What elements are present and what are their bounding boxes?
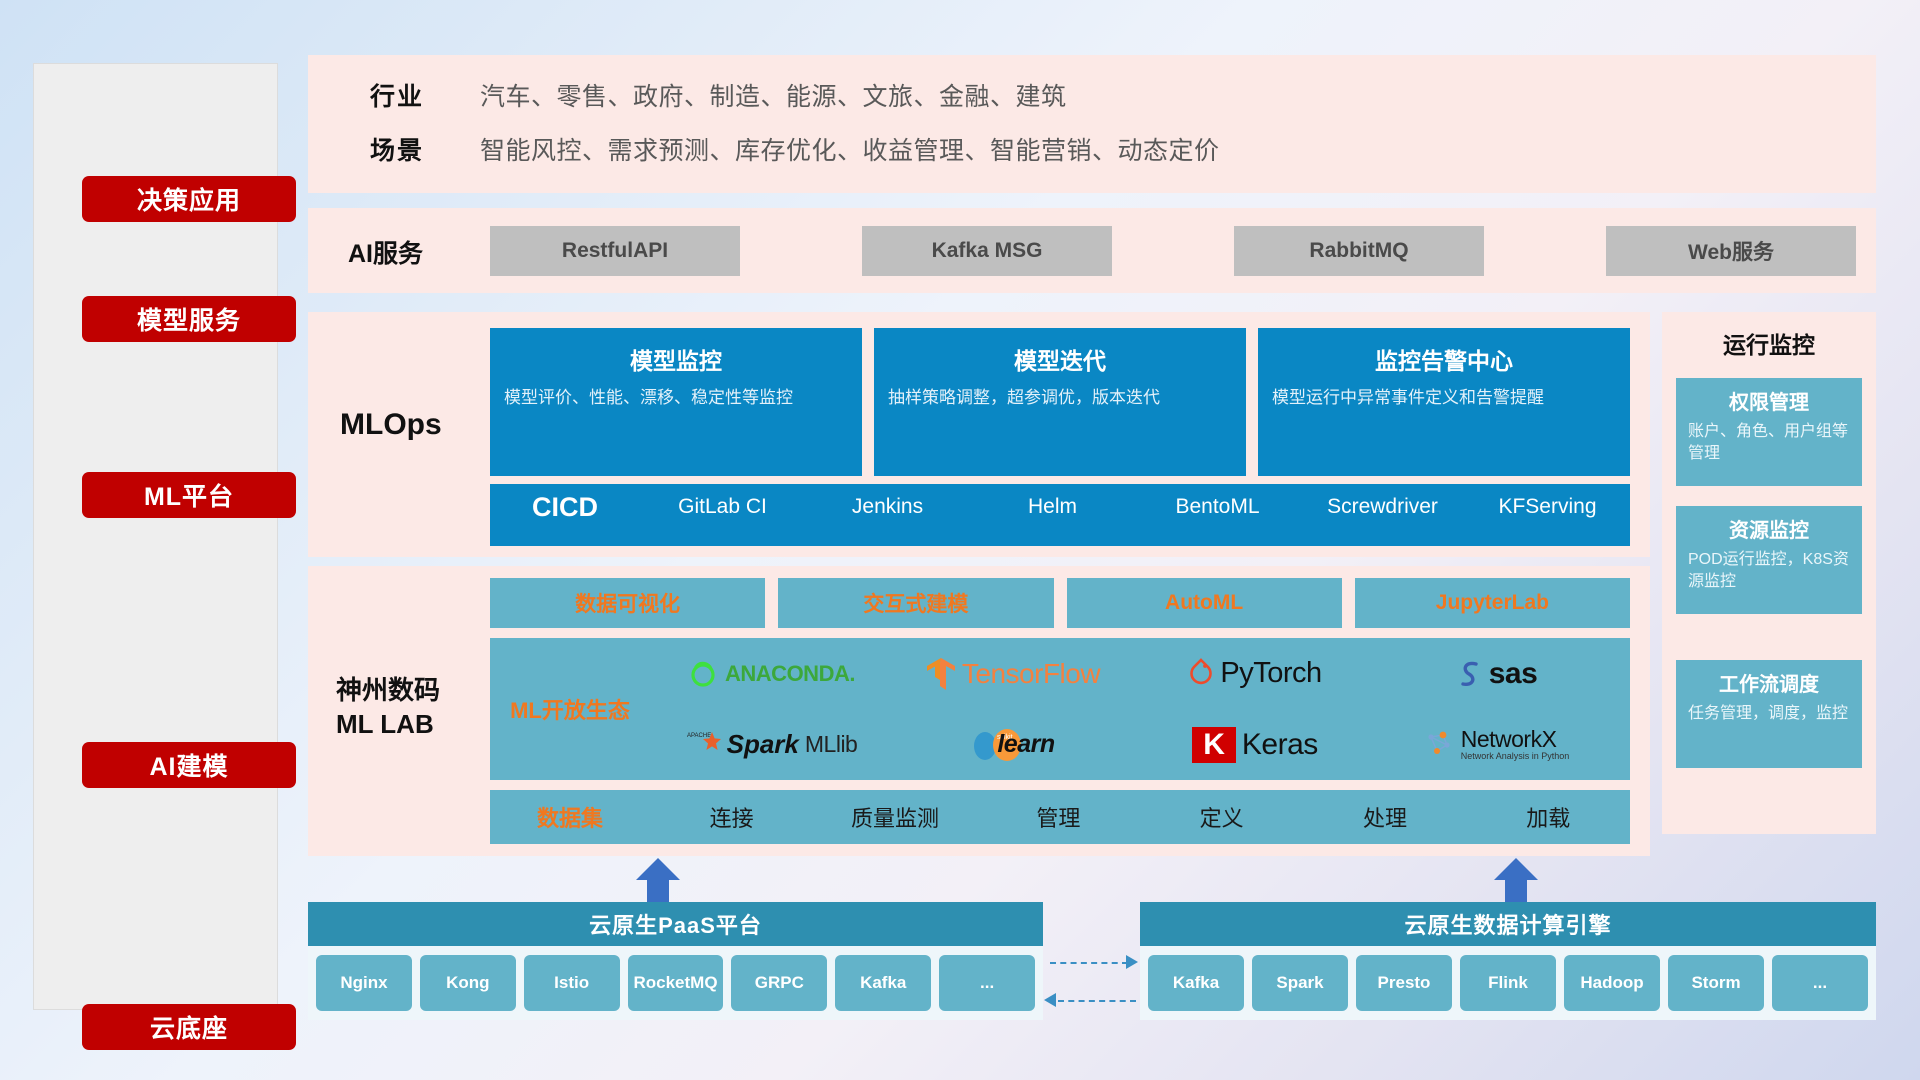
sas-icon (1457, 658, 1483, 690)
arrow-up-paas-icon (636, 858, 680, 906)
card-desc: 模型评价、性能、漂移、稳定性等监控 (504, 386, 848, 410)
networkx-tagline: Network Analysis in Python (1461, 751, 1570, 761)
connector-left-arrow-icon (1044, 993, 1056, 1007)
dataset-row: 数据集 连接 质量监测 管理 定义 处理 加载 (490, 790, 1630, 844)
card-desc: 账户、角色、用户组等管理 (1688, 421, 1850, 464)
connector-right-line (1050, 962, 1128, 964)
dataset-item-process[interactable]: 处理 (1303, 801, 1466, 833)
ml-eco-row: ML开放生态 ANACONDA. TensorFlow (490, 638, 1630, 780)
tensorflow-logo: TensorFlow (926, 657, 1100, 691)
cicd-item-kfserving[interactable]: KFServing (1465, 484, 1630, 520)
run-monitor-card-workflow[interactable]: 工作流调度 任务管理，调度，监控 (1676, 660, 1862, 768)
card-title: 权限管理 (1688, 386, 1850, 415)
ml-lab-tool-list: 数据可视化 交互式建模 AutoML JupyterLab (490, 578, 1630, 628)
chip-hadoop[interactable]: Hadoop (1564, 955, 1660, 1011)
keras-logo: K Keras (1192, 727, 1318, 763)
keras-wordmark: Keras (1242, 728, 1318, 762)
service-chip-web-service[interactable]: Web服务 (1606, 226, 1856, 276)
cloud-data-engine-box: 云原生数据计算引擎 Kafka Spark Presto Flink Hadoo… (1140, 902, 1876, 1020)
tool-chip-interactive-modeling[interactable]: 交互式建模 (778, 578, 1053, 628)
tool-chip-jupyterlab[interactable]: JupyterLab (1355, 578, 1630, 628)
chip-rocketmq[interactable]: RocketMQ (628, 955, 724, 1011)
connector-right-arrow-icon (1126, 955, 1138, 969)
ai-service-list: RestfulAPI Kafka MSG RabbitMQ Web服务 (490, 226, 1856, 276)
industry-label: 行业 (370, 77, 480, 113)
cicd-row: CICD GitLab CI Jenkins Helm BentoML Scre… (490, 484, 1630, 546)
spark-icon: APACHE (685, 728, 721, 762)
anaconda-icon (687, 658, 719, 690)
sidebar-item-label: ML平台 (144, 477, 234, 513)
chip-kafka[interactable]: Kafka (1148, 955, 1244, 1011)
networkx-logo: NetworkX Network Analysis in Python (1425, 728, 1570, 761)
run-monitor-card-permission[interactable]: 权限管理 账户、角色、用户组等管理 (1676, 378, 1862, 486)
ml-lab-label-cn: 神州数码 (336, 674, 440, 708)
service-chip-rabbitmq[interactable]: RabbitMQ (1234, 226, 1484, 276)
dataset-label: 数据集 (490, 801, 650, 833)
ml-eco-logo-grid: ANACONDA. TensorFlow PyTorch (650, 638, 1630, 780)
ml-lab-label-en: ML LAB (336, 708, 440, 742)
tool-chip-automl[interactable]: AutoML (1067, 578, 1342, 628)
card-title: 资源监控 (1688, 514, 1850, 543)
spark-apache-text: APACHE (687, 733, 711, 739)
card-desc: 模型运行中异常事件定义和告警提醒 (1272, 386, 1616, 410)
connector-left-line (1058, 1000, 1136, 1002)
mlops-card-alert-center[interactable]: 监控告警中心 模型运行中异常事件定义和告警提醒 (1258, 328, 1630, 476)
chip-kong[interactable]: Kong (420, 955, 516, 1011)
scene-label: 场景 (370, 131, 480, 167)
learn-wordmark: learn (997, 730, 1054, 759)
card-title: 监控告警中心 (1272, 342, 1616, 376)
layer-rail: 决策应用 模型服务 ML平台 AI建模 云底座 (33, 63, 278, 1010)
cloud-paas-chip-list: Nginx Kong Istio RocketMQ GRPC Kafka ... (308, 946, 1043, 1020)
sidebar-item-label: 模型服务 (137, 301, 241, 337)
industry-scene-band: 行业 汽车、零售、政府、制造、能源、文旅、金融、建筑 场景 智能风控、需求预测、… (308, 55, 1876, 193)
dataset-item-manage[interactable]: 管理 (977, 801, 1140, 833)
pytorch-logo: PyTorch (1188, 657, 1321, 690)
anaconda-wordmark: ANACONDA. (725, 661, 855, 687)
sidebar-item-ai-modeling[interactable]: AI建模 (82, 742, 296, 788)
chip-flink[interactable]: Flink (1460, 955, 1556, 1011)
card-desc: POD运行监控，K8S资源监控 (1688, 549, 1850, 592)
ml-lab-label: 神州数码 ML LAB (336, 674, 440, 742)
mlops-label: MLOps (340, 408, 442, 442)
cloud-paas-box: 云原生PaaS平台 Nginx Kong Istio RocketMQ GRPC… (308, 902, 1043, 1020)
card-desc: 任务管理，调度，监控 (1688, 703, 1850, 725)
ml-eco-label: ML开放生态 (490, 693, 650, 725)
run-monitor-card-resource[interactable]: 资源监控 POD运行监控，K8S资源监控 (1676, 506, 1862, 614)
keras-badge: K (1192, 727, 1236, 763)
tensorflow-wordmark: TensorFlow (962, 658, 1100, 690)
sidebar-item-cloud-base[interactable]: 云底座 (82, 1004, 296, 1050)
chip-more[interactable]: ... (1772, 955, 1868, 1011)
scene-value: 智能风控、需求预测、库存优化、收益管理、智能营销、动态定价 (480, 131, 1220, 167)
sidebar-item-decision-app[interactable]: 决策应用 (82, 176, 296, 222)
ml-lab-band: 神州数码 ML LAB 数据可视化 交互式建模 AutoML JupyterLa… (308, 566, 1650, 856)
sas-wordmark: sas (1489, 657, 1538, 691)
cicd-item-bentoml[interactable]: BentoML (1135, 484, 1300, 520)
dataset-item-load[interactable]: 加载 (1467, 801, 1630, 833)
sidebar-item-model-service[interactable]: 模型服务 (82, 296, 296, 342)
card-title: 模型迭代 (888, 342, 1232, 376)
chip-presto[interactable]: Presto (1356, 955, 1452, 1011)
industry-value: 汽车、零售、政府、制造、能源、文旅、金融、建筑 (480, 77, 1067, 113)
mlops-card-model-iteration[interactable]: 模型迭代 抽样策略调整，超参调优，版本迭代 (874, 328, 1246, 476)
card-title: 模型监控 (504, 342, 848, 376)
cloud-data-engine-title: 云原生数据计算引擎 (1140, 902, 1876, 946)
mllib-wordmark: MLlib (805, 731, 857, 758)
ai-service-label: AI服务 (348, 234, 423, 270)
mlops-band: MLOps 模型监控 模型评价、性能、漂移、稳定性等监控 模型迭代 抽样策略调整… (308, 312, 1650, 557)
chip-more[interactable]: ... (939, 955, 1035, 1011)
cloud-paas-title: 云原生PaaS平台 (308, 902, 1043, 946)
card-title: 工作流调度 (1688, 668, 1850, 697)
sidebar-item-label: 决策应用 (137, 181, 241, 217)
ai-service-band: AI服务 RestfulAPI Kafka MSG RabbitMQ Web服务 (308, 208, 1876, 293)
run-monitor-panel: 运行监控 权限管理 账户、角色、用户组等管理 资源监控 POD运行监控，K8S资… (1662, 312, 1876, 834)
dataset-item-connect[interactable]: 连接 (650, 801, 813, 833)
cloud-data-engine-chip-list: Kafka Spark Presto Flink Hadoop Storm ..… (1140, 946, 1876, 1020)
card-desc: 抽样策略调整，超参调优，版本迭代 (888, 386, 1232, 410)
chip-kafka[interactable]: Kafka (835, 955, 931, 1011)
scene-row: 场景 智能风控、需求预测、库存优化、收益管理、智能营销、动态定价 (370, 131, 1220, 167)
run-monitor-title: 运行监控 (1662, 326, 1876, 360)
sas-logo: sas (1457, 657, 1538, 691)
chip-storm[interactable]: Storm (1668, 955, 1764, 1011)
mlops-card-list: 模型监控 模型评价、性能、漂移、稳定性等监控 模型迭代 抽样策略调整，超参调优，… (490, 328, 1630, 476)
chip-spark[interactable]: Spark (1252, 955, 1348, 1011)
chip-grpc[interactable]: GRPC (731, 955, 827, 1011)
networkx-wordmark: NetworkX (1461, 728, 1570, 751)
dataset-item-define[interactable]: 定义 (1140, 801, 1303, 833)
pytorch-wordmark: PyTorch (1220, 657, 1321, 690)
industry-row: 行业 汽车、零售、政府、制造、能源、文旅、金融、建筑 (370, 77, 1067, 113)
cicd-item-helm[interactable]: Helm (970, 484, 1135, 520)
sidebar-item-label: 云底座 (150, 1009, 228, 1045)
tool-chip-data-visualization[interactable]: 数据可视化 (490, 578, 765, 628)
cicd-item-gitlab-ci[interactable]: GitLab CI (640, 484, 805, 520)
cicd-item-screwdriver[interactable]: Screwdriver (1300, 484, 1465, 520)
architecture-diagram: 决策应用 模型服务 ML平台 AI建模 云底座 行业 汽车、零售、政府、制造、能… (0, 0, 1920, 1080)
arrow-up-data-engine-icon (1494, 858, 1538, 906)
pytorch-icon (1188, 658, 1214, 690)
sidebar-item-label: AI建模 (149, 747, 228, 783)
chip-nginx[interactable]: Nginx (316, 955, 412, 1011)
sidebar-item-ml-platform[interactable]: ML平台 (82, 472, 296, 518)
spark-wordmark: Spark (727, 729, 799, 760)
anaconda-logo: ANACONDA. (687, 658, 855, 690)
spark-logo: APACHE Spark MLlib (685, 728, 858, 762)
networkx-icon (1425, 729, 1455, 761)
mlops-card-model-monitor[interactable]: 模型监控 模型评价、性能、漂移、稳定性等监控 (490, 328, 862, 476)
cicd-item-jenkins[interactable]: Jenkins (805, 484, 970, 520)
service-chip-kafka-msg[interactable]: Kafka MSG (862, 226, 1112, 276)
tensorflow-icon (926, 657, 956, 691)
scikit-learn-logo: scikit learn (971, 725, 1054, 765)
cicd-heading: CICD (490, 484, 640, 523)
networkx-text-wrap: NetworkX Network Analysis in Python (1461, 728, 1570, 761)
dataset-item-quality-monitor[interactable]: 质量监测 (813, 801, 976, 833)
service-chip-restfulapi[interactable]: RestfulAPI (490, 226, 740, 276)
chip-istio[interactable]: Istio (524, 955, 620, 1011)
